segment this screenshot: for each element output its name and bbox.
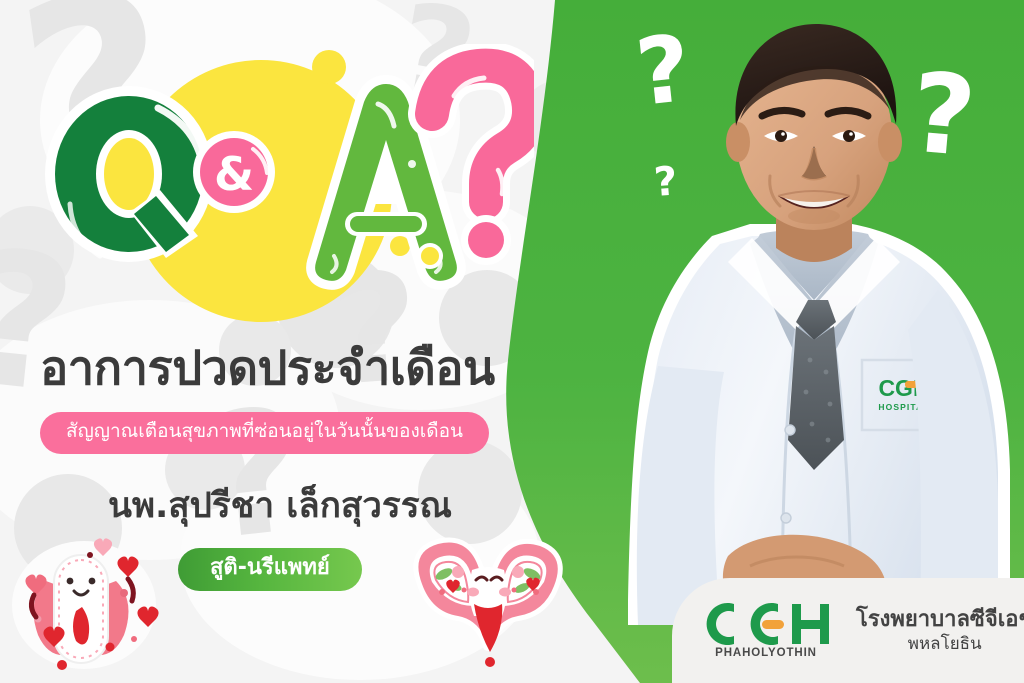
hospital-branch-th: พหลโยธิน — [856, 634, 1024, 655]
cgh-logo-mark — [700, 603, 832, 645]
uterus-illustration — [392, 524, 582, 683]
qa-letter-q — [45, 86, 213, 262]
page-title: อาการปวดประจำเดือน — [40, 343, 530, 395]
qa-logo: & — [34, 44, 534, 334]
doctor-photo: CGH HOSPITAL — [600, 0, 1024, 625]
qa-ampersand-badge: & — [193, 131, 275, 213]
brand-logo-card: PHAHOLYOTHIN โรงพยาบาลซีจีเอช พหลโยธิน — [672, 578, 1024, 683]
cgh-logo-sub: PHAHOLYOTHIN — [700, 647, 832, 659]
hospital-name-block: โรงพยาบาลซีจีเอช พหลโยธิน — [856, 607, 1024, 655]
qa-ampersand-glyph: & — [214, 147, 254, 201]
qa-letters-group: & — [34, 44, 534, 334]
doctor-name: นพ.สุปรีชา เล็กสุวรรณ — [0, 485, 560, 527]
qa-dot — [421, 247, 439, 265]
specialty-badge: สูติ-นรีแพทย์ — [178, 548, 362, 591]
sanitary-pad-illustration — [4, 535, 174, 683]
cgh-logo: PHAHOLYOTHIN — [700, 603, 832, 659]
subtitle-badge: สัญญาณเตือนสุขภาพที่ซ่อนอยู่ในวันนั้นของ… — [40, 412, 489, 454]
hospital-name-th: โรงพยาบาลซีจีเอช — [856, 607, 1024, 634]
poster-canvas: ? ? ? ? ? ? ? ? ? — [0, 0, 1024, 683]
